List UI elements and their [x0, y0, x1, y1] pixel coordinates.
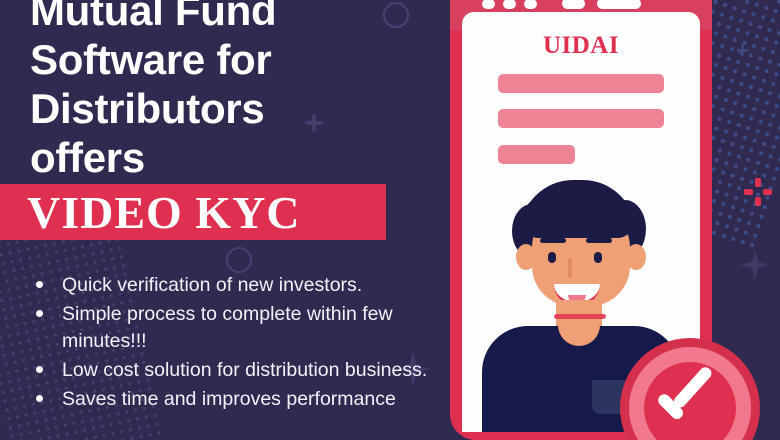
video-kyc-banner: VIDEO KYC: [0, 184, 386, 240]
headline-line-3: Distributors: [30, 84, 390, 133]
eyebrow-left: [540, 238, 566, 243]
circle-outline-icon-middle: [226, 247, 252, 273]
headline-line-2: Software for: [30, 35, 390, 84]
status-pill-icon-small: [562, 0, 585, 9]
headline: Mutual Fund Software for Distributors of…: [30, 0, 390, 183]
list-item: Saves time and improves performance: [28, 386, 448, 414]
form-field-placeholder-1: [498, 74, 664, 93]
list-item: Quick verification of new investors.: [28, 272, 448, 300]
verified-check-badge: [620, 338, 760, 440]
headline-line-4: offers: [30, 133, 390, 182]
status-dot-icon-1: [482, 0, 495, 9]
nose-shape: [568, 258, 572, 278]
form-field-placeholder-3: [498, 145, 575, 164]
eyebrow-right: [586, 238, 612, 243]
list-item: Low cost solution for distribution busin…: [28, 357, 448, 385]
sparkle-icon-red: [744, 178, 772, 206]
collar-accent: [554, 314, 606, 319]
status-bar-icons: [482, 0, 641, 9]
status-dot-icon-3: [524, 0, 537, 9]
benefits-list: Quick verification of new investors. Sim…: [28, 272, 448, 414]
form-field-placeholder-2: [498, 109, 664, 128]
status-dot-icon-2: [503, 0, 516, 9]
eye-left: [548, 252, 556, 263]
eye-right: [594, 252, 602, 263]
status-pill-icon-large: [597, 0, 641, 9]
poster-canvas: + + Mutual Fund Software for Distributor…: [0, 0, 780, 440]
plus-icon-right: +: [736, 40, 749, 62]
headline-line-1: Mutual Fund: [30, 0, 390, 35]
check-mark-icon: [658, 378, 720, 410]
uidai-title: UIDAI: [462, 32, 700, 60]
list-item: Simple process to complete within few mi…: [28, 301, 448, 356]
four-point-star-icon-right: [740, 250, 770, 280]
hair-fringe: [522, 194, 634, 238]
video-kyc-label: VIDEO KYC: [0, 186, 301, 239]
